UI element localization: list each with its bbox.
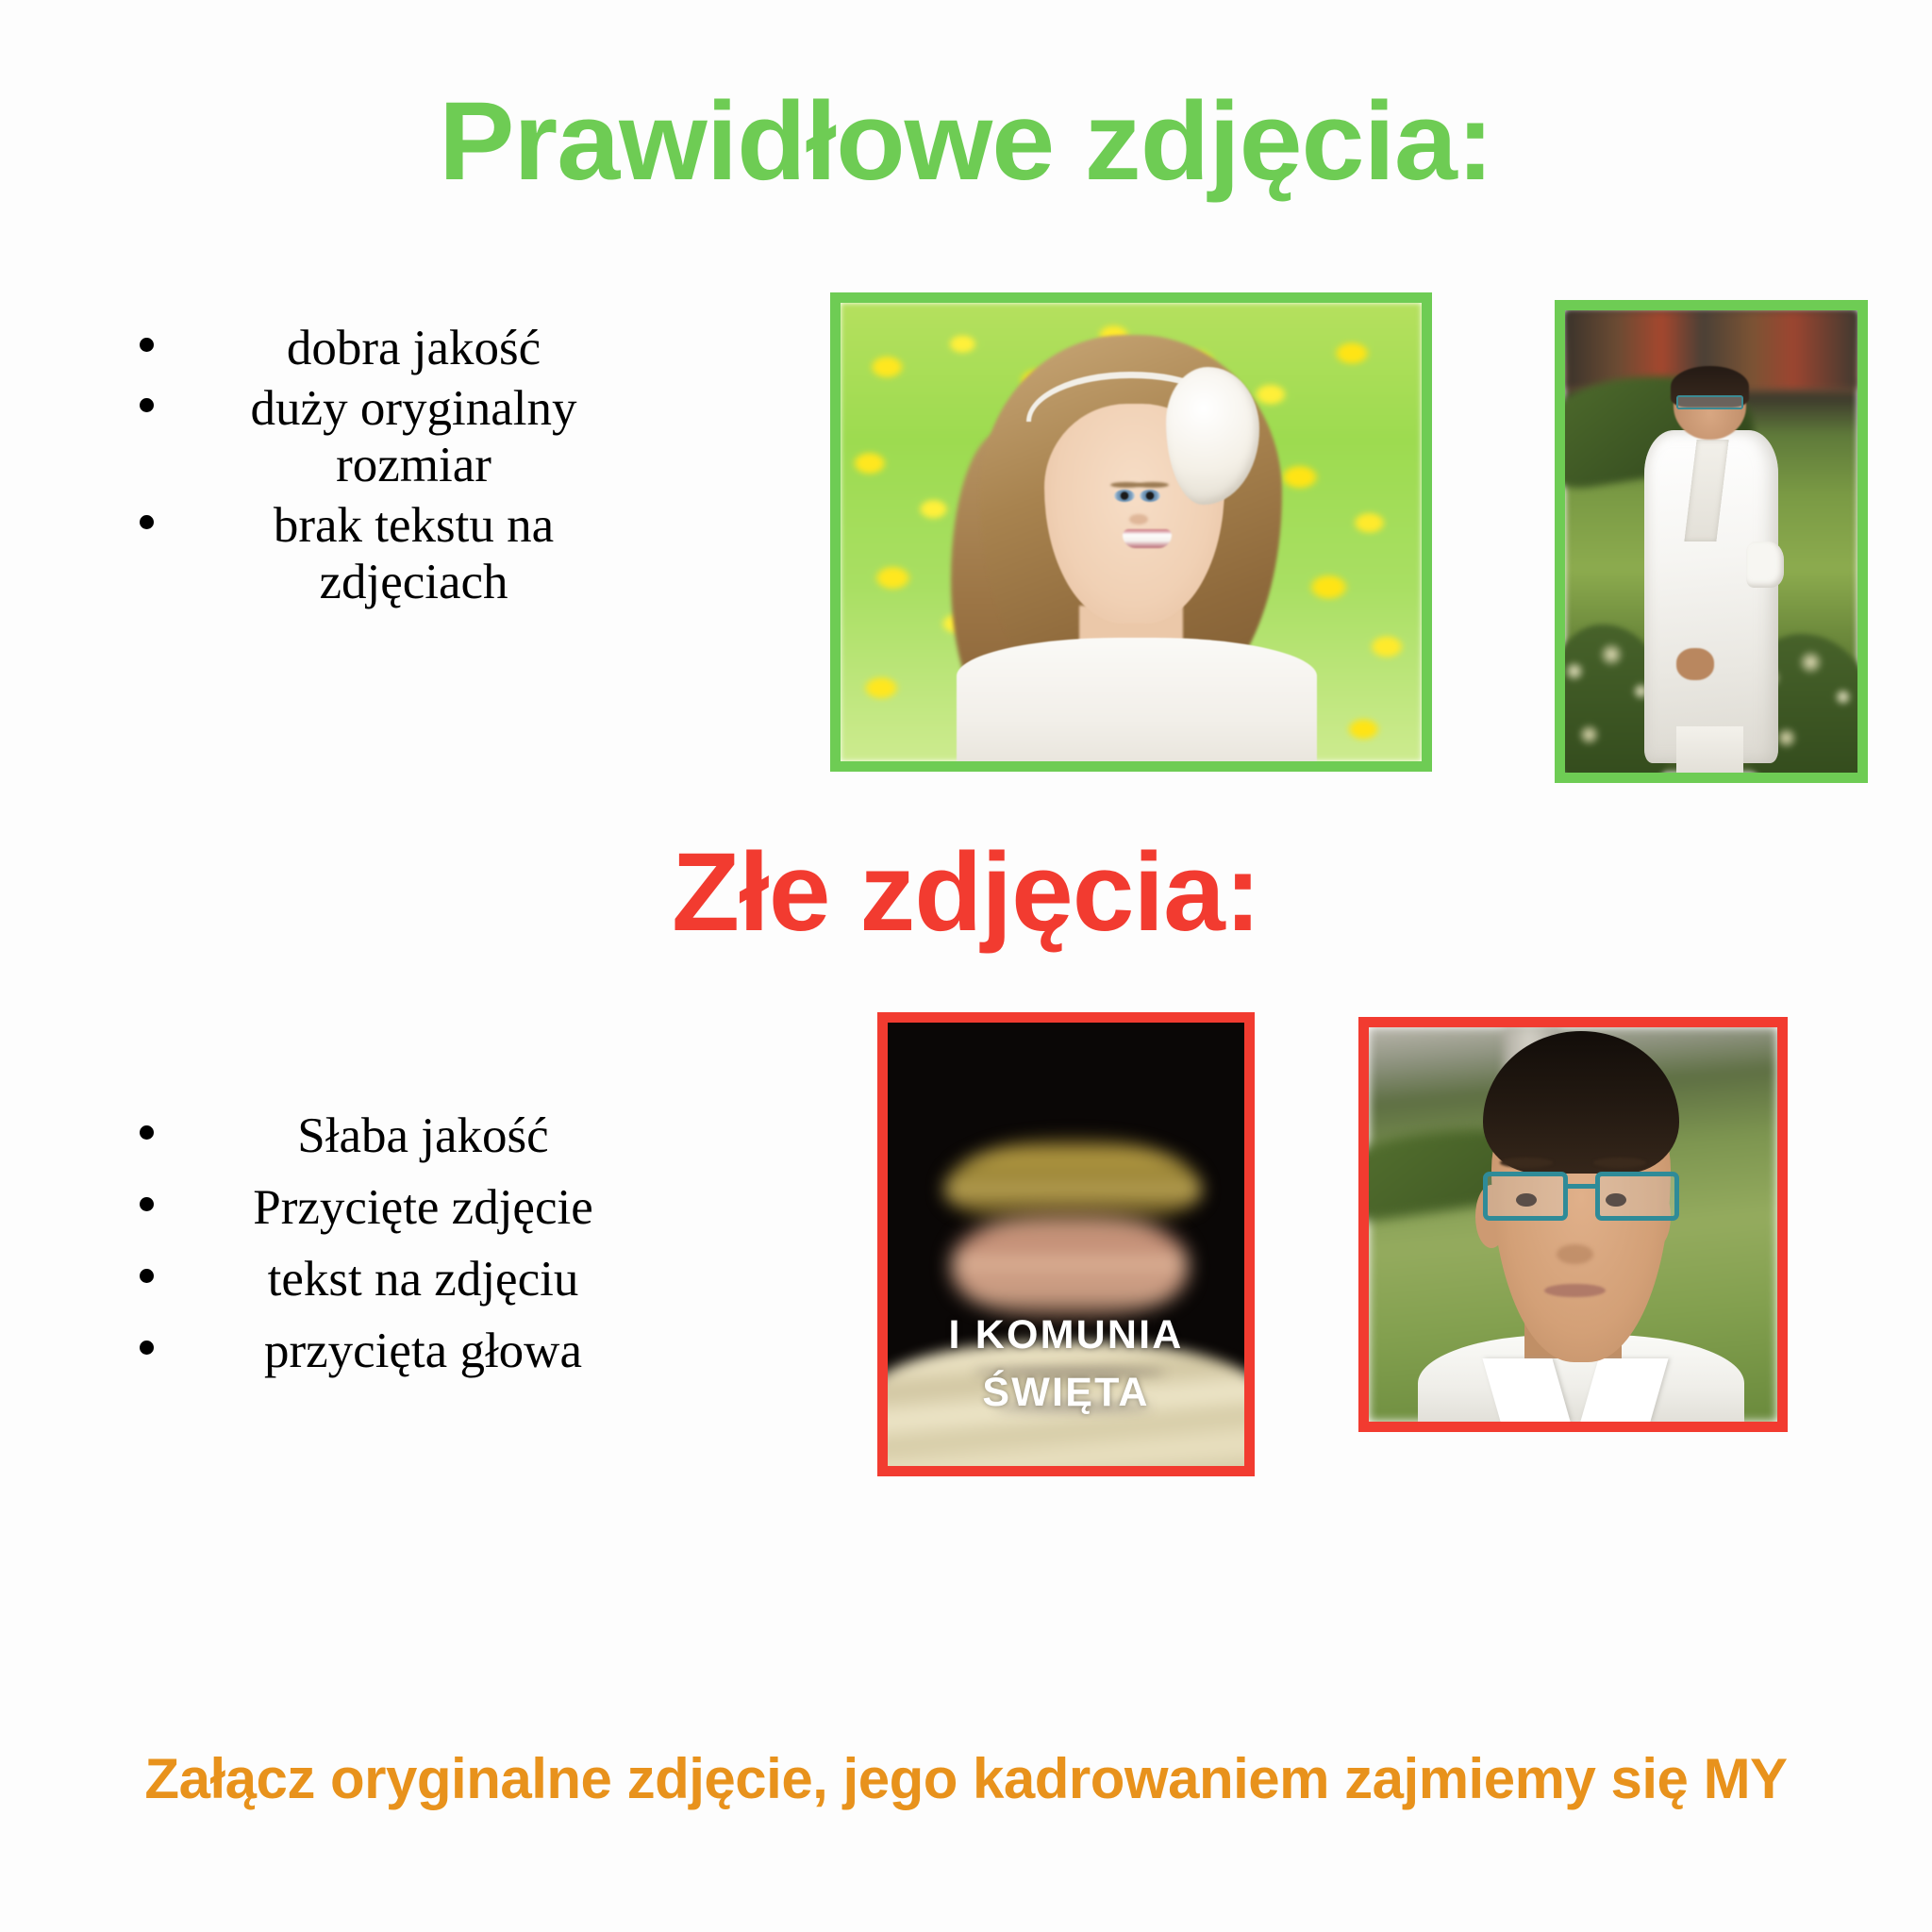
- photo-girl-in-dandelion-field: [830, 292, 1432, 772]
- boy-nose: [1557, 1244, 1593, 1264]
- photo-content: [1369, 1027, 1777, 1422]
- girl-eyebrow-right: [1137, 482, 1169, 488]
- boy-mouth: [1544, 1284, 1606, 1297]
- bullet-label: Przycięte zdjęcie: [140, 1180, 663, 1237]
- girl-nose: [1129, 514, 1148, 525]
- boy-white-trousers: [1676, 726, 1743, 773]
- bullet-label: duży oryginalny rozmiar: [140, 381, 644, 494]
- bullet-dot-icon: [140, 515, 154, 529]
- bullet-label: przycięta głowa: [140, 1324, 663, 1380]
- girl-eye-right: [1140, 490, 1160, 502]
- photo-content: I KOMUNIA ŚWIĘTA: [888, 1023, 1244, 1466]
- photo-blurry-with-caption: I KOMUNIA ŚWIĘTA: [877, 1012, 1255, 1476]
- bullet-dot-icon: [140, 1341, 154, 1355]
- bullet-dot-icon: [140, 1197, 154, 1211]
- glasses-lens-left: [1483, 1172, 1567, 1221]
- girl-smile: [1123, 529, 1172, 548]
- photo-content: [1565, 310, 1857, 773]
- boy-glasses-icon: [1676, 395, 1743, 409]
- bullet-label: Słaba jakość: [140, 1108, 663, 1165]
- boy-armband: [1746, 541, 1784, 588]
- footer-call-to-action: Załącz oryginalne zdjęcie, jego kadrowan…: [0, 1746, 1932, 1811]
- list-item: Przycięte zdjęcie: [140, 1180, 663, 1237]
- photo-overlay-caption: I KOMUNIA ŚWIĘTA: [888, 1307, 1244, 1422]
- bad-photos-bullet-list: Słaba jakość Przycięte zdjęcie tekst na …: [140, 1108, 663, 1395]
- bullet-dot-icon: [140, 1125, 154, 1140]
- good-photos-heading: Prawidłowe zdjęcia:: [0, 77, 1932, 206]
- poster-root: Prawidłowe zdjęcia: dobra jakość duży or…: [0, 0, 1932, 1932]
- blurred-face: [952, 1213, 1187, 1320]
- list-item: tekst na zdjęciu: [140, 1252, 663, 1308]
- good-photos-bullet-list: dobra jakość duży oryginalny rozmiar bra…: [140, 321, 644, 614]
- bad-photos-heading: Złe zdjęcia:: [0, 828, 1932, 957]
- bullet-label: tekst na zdjęciu: [140, 1252, 663, 1308]
- bullet-dot-icon: [140, 338, 154, 352]
- boy-eyebrow-left: [1500, 1158, 1553, 1168]
- caption-line-1: I KOMUNIA: [888, 1307, 1244, 1364]
- glasses-lens-right: [1595, 1172, 1679, 1221]
- list-item: dobra jakość: [140, 321, 644, 377]
- girl-eye-left: [1114, 490, 1135, 502]
- bullet-dot-icon: [140, 398, 154, 412]
- caption-line-2: ŚWIĘTA: [888, 1364, 1244, 1422]
- list-item: brak tekstu na zdjęciach: [140, 498, 644, 611]
- glasses-bridge: [1568, 1184, 1595, 1189]
- list-item: Słaba jakość: [140, 1108, 663, 1165]
- photo-boy-full-body-white-suit: [1555, 300, 1868, 783]
- bullet-label: brak tekstu na zdjęciach: [140, 498, 644, 611]
- boy-glasses-icon: [1483, 1172, 1679, 1221]
- list-item: duży oryginalny rozmiar: [140, 381, 644, 494]
- photo-content: [841, 303, 1422, 761]
- boy-eyebrow-right: [1593, 1158, 1646, 1168]
- bullet-label: dobra jakość: [140, 321, 644, 377]
- bullet-dot-icon: [140, 1269, 154, 1283]
- boy-clasped-hands: [1676, 648, 1714, 680]
- girl-white-blouse: [957, 638, 1317, 761]
- photo-cropped-boy-head: [1358, 1017, 1788, 1432]
- list-item: przycięta głowa: [140, 1324, 663, 1380]
